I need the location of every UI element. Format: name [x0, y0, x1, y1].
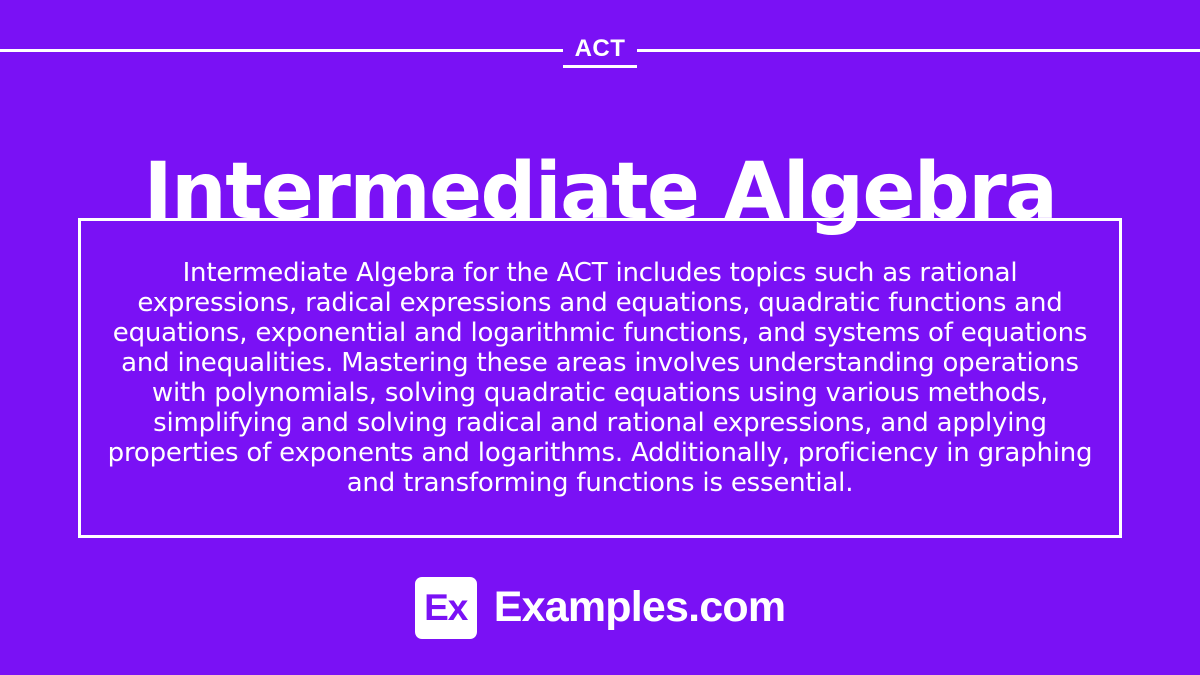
- slide-canvas: ACT Intermediate Algebra Intermediate Al…: [0, 0, 1200, 675]
- description-panel: Intermediate Algebra for the ACT include…: [78, 218, 1122, 538]
- description-text: Intermediate Algebra for the ACT include…: [81, 258, 1119, 498]
- eyebrow-rule-left: [0, 49, 563, 52]
- logo-mark-text: Ex: [424, 589, 467, 626]
- eyebrow-rule-right: [637, 49, 1200, 52]
- brand-logo: Ex Examples.com: [0, 574, 1200, 642]
- logo-wordmark: Examples.com: [494, 586, 786, 629]
- eyebrow-label: ACT: [563, 37, 638, 68]
- eyebrow-header: ACT: [0, 34, 1200, 66]
- examples-logo-icon: Ex: [415, 577, 477, 639]
